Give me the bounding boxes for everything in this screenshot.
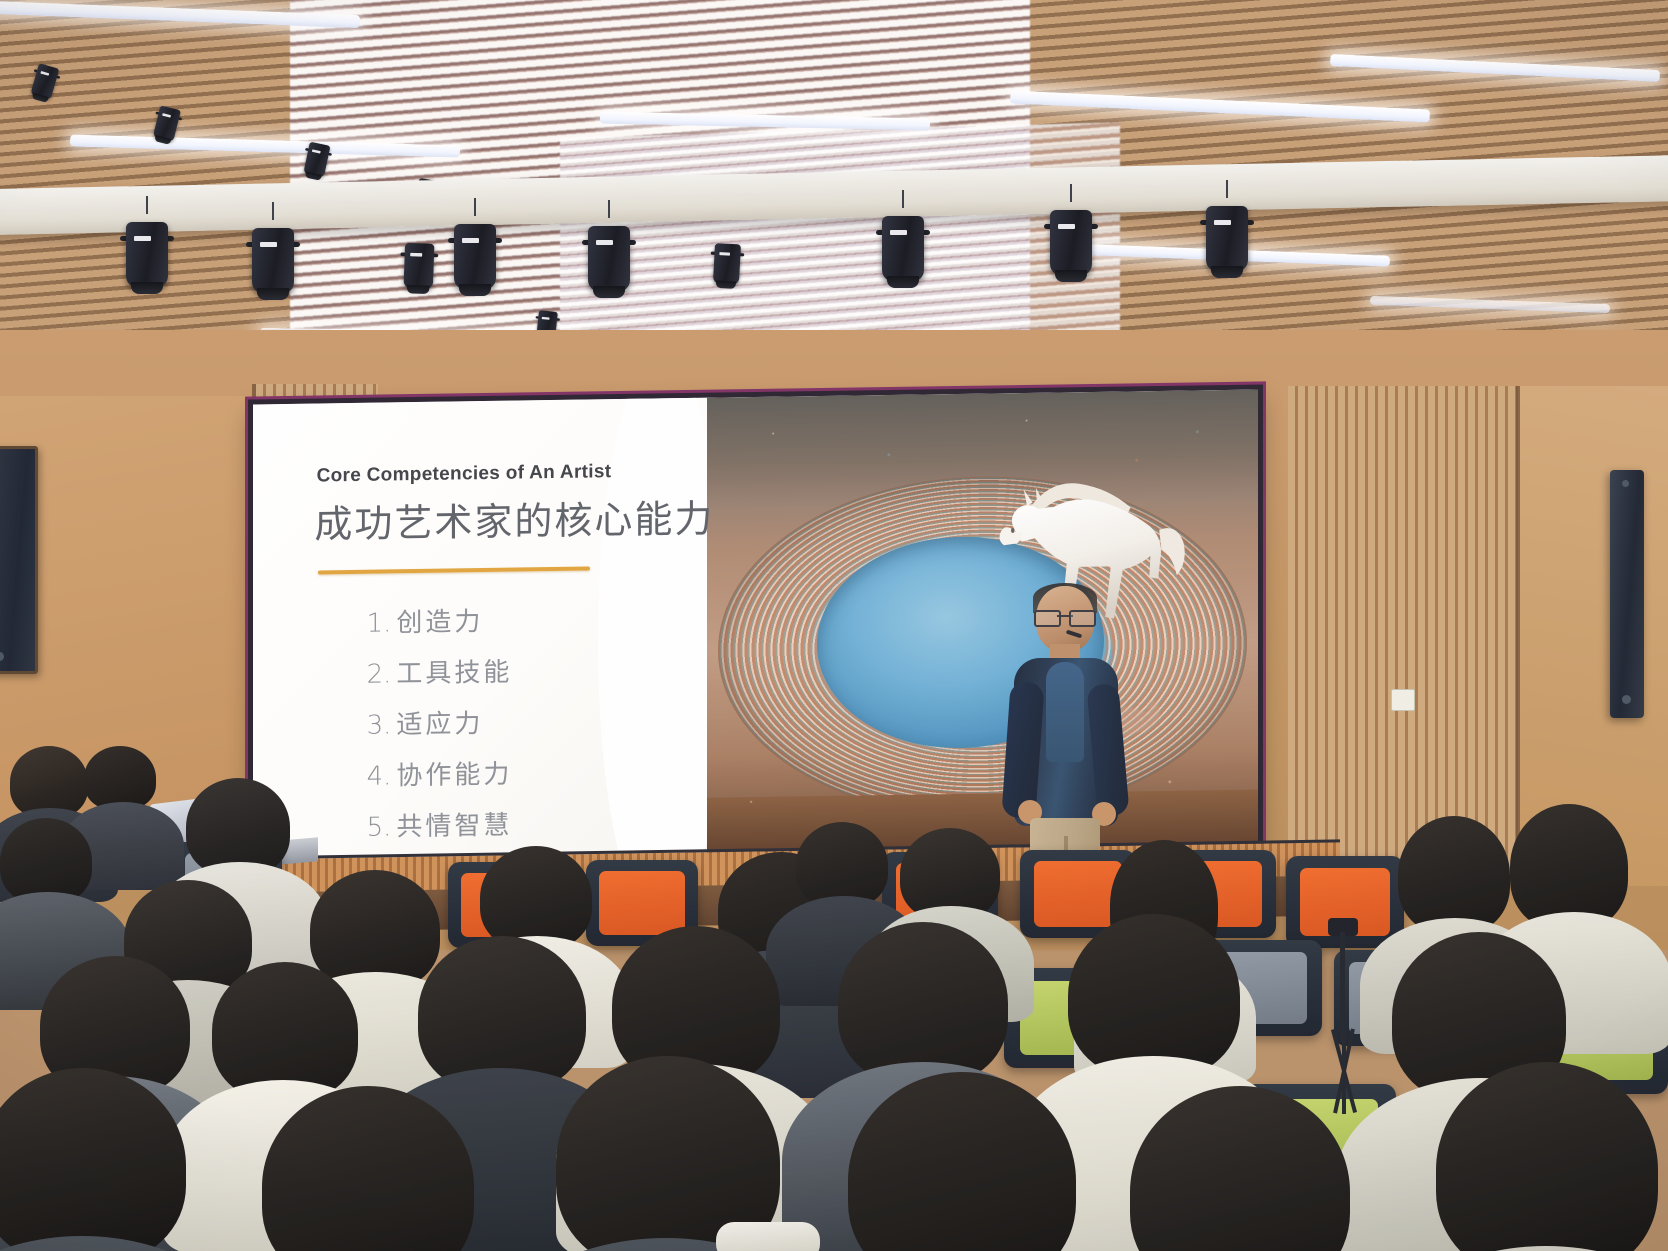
audience-seating bbox=[0, 700, 1668, 1251]
list-item: 1.创造力 bbox=[367, 601, 513, 640]
list-item-number: 2. bbox=[367, 659, 392, 689]
list-item: 2.工具技能 bbox=[367, 652, 513, 691]
stage-spotlight-1 bbox=[120, 212, 174, 294]
stage-spotlight-5 bbox=[876, 206, 930, 288]
stage-spotlight-6 bbox=[1044, 200, 1098, 282]
lecture-hall-photo: Core Competencies of An Artist 成功艺术家的核心能… bbox=[0, 0, 1668, 1251]
wall-speaker-right-column bbox=[1610, 470, 1644, 718]
stage-spotlight-9 bbox=[709, 237, 745, 290]
list-item-label: 工具技能 bbox=[396, 658, 512, 690]
glasses-icon bbox=[1034, 610, 1096, 623]
tripod-leg bbox=[1342, 1028, 1346, 1114]
stage-spotlight-4 bbox=[582, 216, 636, 298]
stage-spotlight-3 bbox=[448, 214, 502, 296]
stage-spotlight-2 bbox=[246, 218, 300, 300]
stage-spotlight-8 bbox=[399, 236, 439, 295]
slide-title-chinese: 成功艺术家的核心能力 bbox=[314, 487, 714, 548]
list-item-label: 创造力 bbox=[396, 607, 483, 638]
list-item-number: 1. bbox=[367, 608, 392, 638]
slide-accent-rule bbox=[318, 567, 591, 575]
tripod-pole bbox=[1340, 932, 1345, 1042]
audience-bag bbox=[716, 1222, 820, 1251]
slide-title-english: Core Competencies of An Artist bbox=[317, 461, 612, 487]
stage-spotlight-7 bbox=[1200, 196, 1254, 278]
wall-speaker-left bbox=[0, 446, 38, 674]
